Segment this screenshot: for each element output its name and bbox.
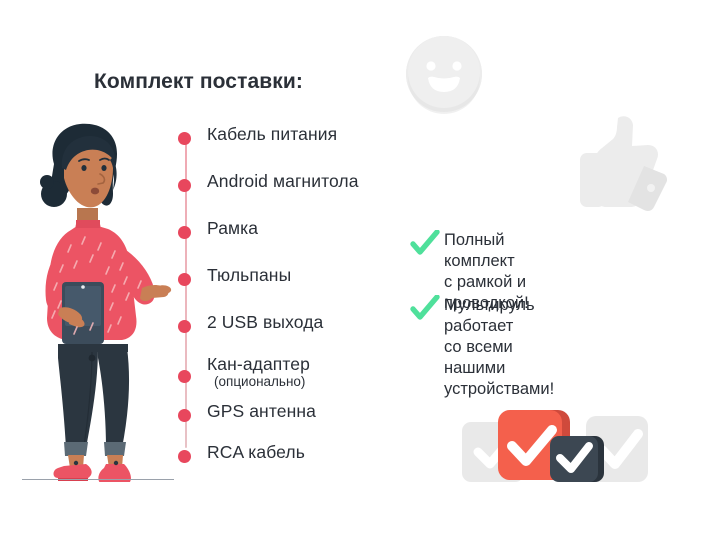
green-check-icon <box>410 230 440 260</box>
list-item-label: Кабель питания <box>207 124 337 145</box>
list-item-label: Тюльпаны <box>207 265 291 286</box>
list-item: Рамка <box>178 222 428 242</box>
avito-watermark: Avito <box>616 492 710 527</box>
bullet-dot <box>178 179 191 192</box>
list-item-label: Android магнитола <box>207 171 359 192</box>
promo-card: Комплект поставки: <box>0 0 720 540</box>
list-item-label: RCA кабель <box>207 442 305 463</box>
green-check-icon <box>410 295 440 325</box>
page-title: Комплект поставки: <box>94 70 303 94</box>
list-item-label: Кан-адаптер <box>207 354 310 375</box>
list-item: Кабель питания <box>178 128 428 148</box>
thumbs-up-icon <box>572 112 672 222</box>
list-item-label: 2 USB выхода <box>207 312 323 333</box>
list-item: GPS антенна <box>178 405 428 425</box>
list-item-label: GPS антенна <box>207 401 316 422</box>
list-item-subnote: (опционально) <box>214 374 305 389</box>
woman-pointing-illustration <box>14 112 179 487</box>
bullet-dot <box>178 409 191 422</box>
bullet-dot <box>178 273 191 286</box>
checkbox-group-icon <box>460 404 650 494</box>
list-item: Android магнитола <box>178 175 428 195</box>
supply-kit-list: Кабель питания Android магнитола Рамка Т… <box>178 128 428 458</box>
list-item-label: Рамка <box>207 218 258 239</box>
bullet-dot <box>178 320 191 333</box>
ground-line <box>22 479 174 480</box>
avito-watermark-text: Avito <box>648 496 707 522</box>
benefit-text: Мультируль работает со всеми нашими устр… <box>444 295 554 400</box>
list-item: Кан-адаптер (опционально) <box>178 358 428 378</box>
list-item: RCA кабель <box>178 446 428 466</box>
bullet-dot <box>178 370 191 383</box>
bullet-dot <box>178 132 191 145</box>
list-item: Тюльпаны <box>178 269 428 289</box>
bullet-dot <box>178 226 191 239</box>
smiley-face-icon <box>404 34 484 119</box>
bullet-dot <box>178 450 191 463</box>
list-item: 2 USB выхода <box>178 316 428 336</box>
